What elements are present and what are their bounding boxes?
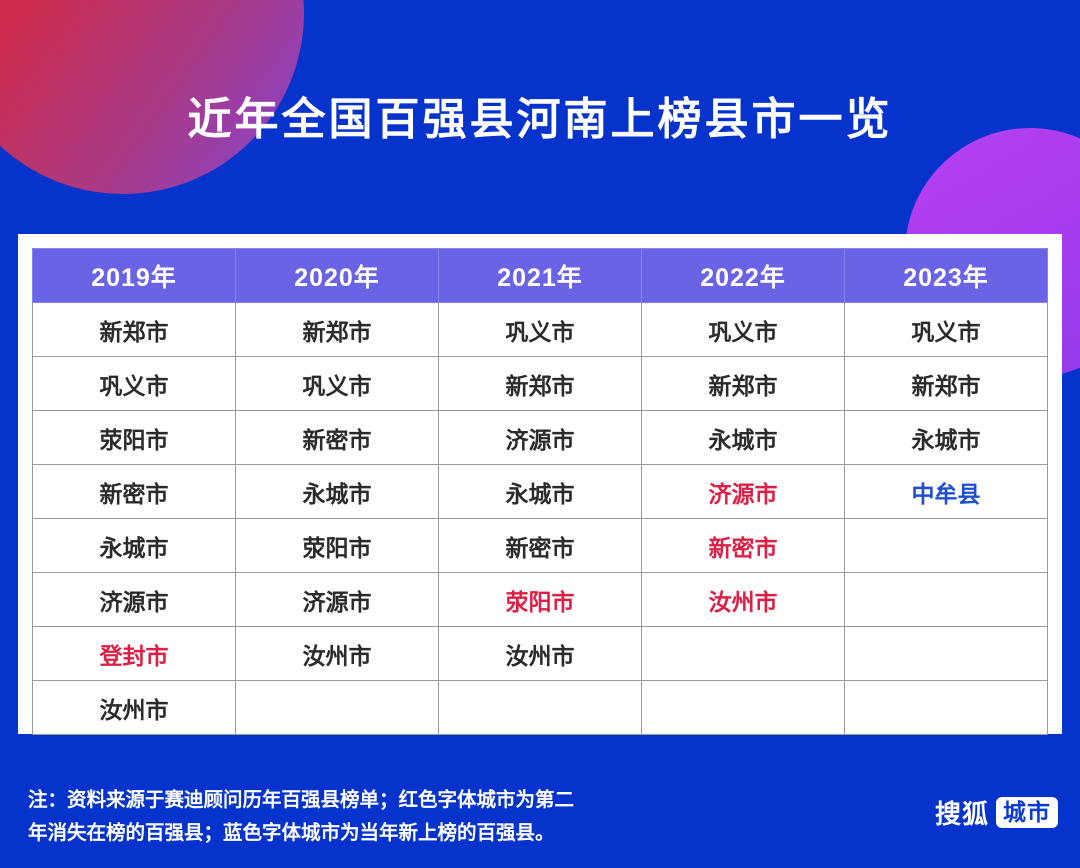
column-header-2019年: 2019年 <box>33 249 236 303</box>
table-cell: 永城市 <box>845 411 1048 465</box>
logo-channel-badge: 城市 <box>996 797 1058 828</box>
table-cell: 登封市 <box>33 627 236 681</box>
table-cell: 荥阳市 <box>33 411 236 465</box>
table-cell-empty <box>845 627 1048 681</box>
ranking-table: 2019年2020年2021年2022年2023年 新郑市新郑市巩义市巩义市巩义… <box>32 248 1048 735</box>
table-cell: 汝州市 <box>642 573 845 627</box>
table-cell: 荥阳市 <box>439 573 642 627</box>
table-cell: 新郑市 <box>236 303 439 357</box>
table-cell: 永城市 <box>236 465 439 519</box>
table-cell-empty <box>845 519 1048 573</box>
table-cell: 济源市 <box>439 411 642 465</box>
column-header-2020年: 2020年 <box>236 249 439 303</box>
table-body: 新郑市新郑市巩义市巩义市巩义市巩义市巩义市新郑市新郑市新郑市荥阳市新密市济源市永… <box>33 303 1048 735</box>
table-cell: 巩义市 <box>236 357 439 411</box>
table-cell-empty <box>845 573 1048 627</box>
table-row: 汝州市 <box>33 681 1048 735</box>
table-cell: 汝州市 <box>33 681 236 735</box>
table-cell: 巩义市 <box>845 303 1048 357</box>
table-row: 登封市汝州市汝州市 <box>33 627 1048 681</box>
table-cell: 永城市 <box>439 465 642 519</box>
table-cell: 汝州市 <box>439 627 642 681</box>
table-header: 2019年2020年2021年2022年2023年 <box>33 249 1048 303</box>
table-cell: 巩义市 <box>33 357 236 411</box>
table-cell: 济源市 <box>33 573 236 627</box>
table-cell: 巩义市 <box>439 303 642 357</box>
table-cell: 新密市 <box>33 465 236 519</box>
table-row: 永城市荥阳市新密市新密市 <box>33 519 1048 573</box>
column-header-2023年: 2023年 <box>845 249 1048 303</box>
table-cell: 永城市 <box>33 519 236 573</box>
column-header-2022年: 2022年 <box>642 249 845 303</box>
table-row: 巩义市巩义市新郑市新郑市新郑市 <box>33 357 1048 411</box>
table-cell: 济源市 <box>642 465 845 519</box>
table-cell: 新郑市 <box>439 357 642 411</box>
table-cell: 新密市 <box>236 411 439 465</box>
table-cell-empty <box>236 681 439 735</box>
table-cell-empty <box>642 681 845 735</box>
column-header-2021年: 2021年 <box>439 249 642 303</box>
table-cell: 荥阳市 <box>236 519 439 573</box>
table-row: 荥阳市新密市济源市永城市永城市 <box>33 411 1048 465</box>
table-cell-empty <box>845 681 1048 735</box>
table-cell: 新郑市 <box>845 357 1048 411</box>
table-cell-empty <box>642 627 845 681</box>
table-cell: 新密市 <box>439 519 642 573</box>
table-row: 济源市济源市荥阳市汝州市 <box>33 573 1048 627</box>
sohu-city-logo: 搜狐 城市 <box>935 794 1058 831</box>
table-cell: 永城市 <box>642 411 845 465</box>
table-row: 新密市永城市永城市济源市中牟县 <box>33 465 1048 519</box>
table-cell: 新郑市 <box>33 303 236 357</box>
table-card: 2019年2020年2021年2022年2023年 新郑市新郑市巩义市巩义市巩义… <box>18 234 1062 734</box>
table-cell: 新郑市 <box>642 357 845 411</box>
table-row: 新郑市新郑市巩义市巩义市巩义市 <box>33 303 1048 357</box>
table-cell: 济源市 <box>236 573 439 627</box>
table-cell: 新密市 <box>642 519 845 573</box>
table-cell-empty <box>439 681 642 735</box>
table-cell: 中牟县 <box>845 465 1048 519</box>
table-header-row: 2019年2020年2021年2022年2023年 <box>33 249 1048 303</box>
table-cell: 巩义市 <box>642 303 845 357</box>
footnote: 注：资料来源于赛迪顾问历年百强县榜单；红色字体城市为第二 年消失在榜的百强县；蓝… <box>28 784 728 850</box>
table-cell: 汝州市 <box>236 627 439 681</box>
footnote-line-1: 注：资料来源于赛迪顾问历年百强县榜单；红色字体城市为第二 <box>28 784 728 817</box>
page-title: 近年全国百强县河南上榜县市一览 <box>0 92 1080 148</box>
footnote-line-2: 年消失在榜的百强县；蓝色字体城市为当年新上榜的百强县。 <box>28 817 728 850</box>
logo-brand-text: 搜狐 <box>935 794 989 831</box>
